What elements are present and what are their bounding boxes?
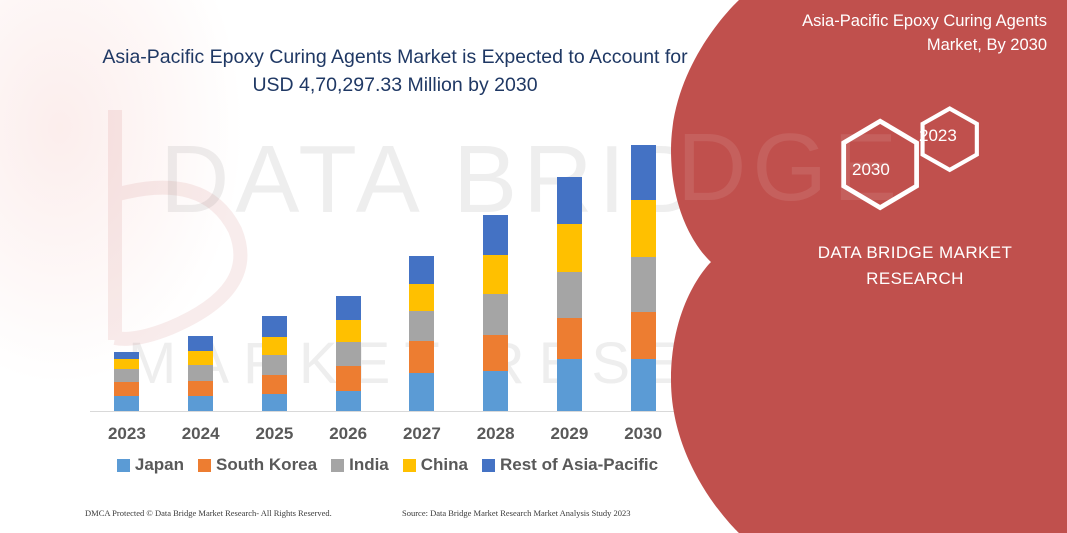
hexagon-2030-label: 2030 bbox=[852, 160, 890, 180]
brand-name: DATA BRIDGE MARKET RESEARCH bbox=[790, 240, 1040, 293]
legend-label: Japan bbox=[135, 455, 184, 475]
bar-stack bbox=[188, 336, 213, 411]
legend-label: Rest of Asia-Pacific bbox=[500, 455, 658, 475]
bar-column bbox=[90, 110, 164, 411]
footer-source: Source: Data Bridge Market Research Mark… bbox=[402, 508, 631, 518]
chart-title: Asia-Pacific Epoxy Curing Agents Market … bbox=[95, 44, 695, 99]
bar-segment bbox=[188, 381, 213, 396]
bar-segment bbox=[557, 272, 582, 318]
bar-column bbox=[238, 110, 312, 411]
bar-segment bbox=[409, 284, 434, 311]
bar-segment bbox=[188, 336, 213, 351]
bar-segment bbox=[483, 335, 508, 371]
bar-segment bbox=[336, 296, 361, 320]
bar-segment bbox=[631, 312, 656, 359]
legend-label: China bbox=[421, 455, 468, 475]
x-axis-label: 2023 bbox=[90, 424, 164, 444]
bar-segment bbox=[336, 342, 361, 366]
x-axis-label: 2026 bbox=[311, 424, 385, 444]
bar-segment bbox=[262, 375, 287, 394]
bar-segment bbox=[557, 359, 582, 411]
bar-segment bbox=[262, 394, 287, 411]
panel-title: Asia-Pacific Epoxy Curing Agents Market,… bbox=[747, 10, 1047, 58]
legend-item: Rest of Asia-Pacific bbox=[482, 455, 658, 475]
bar-segment bbox=[262, 337, 287, 355]
bar-segment bbox=[409, 311, 434, 341]
bar-segment bbox=[631, 145, 656, 200]
bar-segment bbox=[557, 177, 582, 224]
bar-segment bbox=[262, 316, 287, 337]
bar-stack bbox=[483, 215, 508, 411]
bar-stack bbox=[409, 256, 434, 411]
bar-segment bbox=[336, 391, 361, 411]
legend-swatch bbox=[482, 459, 495, 472]
bar-column bbox=[459, 110, 533, 411]
bar-segment bbox=[409, 256, 434, 284]
bar-stack bbox=[114, 352, 139, 411]
x-axis-label: 2029 bbox=[533, 424, 607, 444]
bar-segment bbox=[114, 369, 139, 382]
x-axis-label: 2028 bbox=[459, 424, 533, 444]
bar-segment bbox=[114, 352, 139, 359]
legend-item: India bbox=[331, 455, 389, 475]
bar-segment bbox=[188, 365, 213, 381]
bar-segment bbox=[483, 294, 508, 335]
bar-stack bbox=[262, 316, 287, 411]
legend-swatch bbox=[331, 459, 344, 472]
x-axis-label: 2025 bbox=[238, 424, 312, 444]
bar-segment bbox=[114, 382, 139, 396]
bar-stack bbox=[557, 177, 582, 411]
bar-segment bbox=[114, 359, 139, 369]
legend-item: China bbox=[403, 455, 468, 475]
hexagon-group: 2030 2023 bbox=[814, 105, 994, 215]
bar-column bbox=[164, 110, 238, 411]
bar-segment bbox=[188, 351, 213, 365]
legend-swatch bbox=[198, 459, 211, 472]
bar-segment bbox=[483, 215, 508, 254]
bar-segment bbox=[262, 355, 287, 375]
bar-segment bbox=[336, 320, 361, 342]
bar-segment bbox=[114, 396, 139, 411]
bar-segment bbox=[409, 341, 434, 373]
bar-column bbox=[311, 110, 385, 411]
bar-segment bbox=[631, 359, 656, 411]
bar-segment bbox=[409, 373, 434, 411]
legend-swatch bbox=[117, 459, 130, 472]
bar-segment bbox=[631, 200, 656, 256]
infographic-root: DATA BRIDGE MARKET RESEARCH Asia-Pacific… bbox=[0, 0, 1067, 533]
bar-segment bbox=[631, 257, 656, 312]
bar-stack bbox=[631, 145, 656, 411]
legend-label: South Korea bbox=[216, 455, 317, 475]
bar-column bbox=[606, 110, 680, 411]
x-axis-labels: 20232024202520262027202820292030 bbox=[90, 424, 680, 444]
bar-column bbox=[533, 110, 607, 411]
footer-copyright: DMCA Protected © Data Bridge Market Rese… bbox=[85, 508, 332, 518]
legend-item: Japan bbox=[117, 455, 184, 475]
x-axis-label: 2024 bbox=[164, 424, 238, 444]
legend-item: South Korea bbox=[198, 455, 317, 475]
legend-swatch bbox=[403, 459, 416, 472]
bar-column bbox=[385, 110, 459, 411]
legend-label: India bbox=[349, 455, 389, 475]
chart-legend: JapanSouth KoreaIndiaChinaRest of Asia-P… bbox=[90, 455, 685, 475]
bar-stack bbox=[336, 296, 361, 411]
bar-segment bbox=[483, 255, 508, 294]
bar-segment bbox=[557, 318, 582, 359]
bar-segment bbox=[557, 224, 582, 271]
chart-plot-area bbox=[90, 110, 680, 412]
x-axis-label: 2027 bbox=[385, 424, 459, 444]
bar-segment bbox=[483, 371, 508, 411]
x-axis-label: 2030 bbox=[606, 424, 680, 444]
x-axis-line bbox=[90, 411, 680, 412]
bar-group bbox=[90, 110, 680, 411]
bar-segment bbox=[188, 396, 213, 411]
hexagon-2023-label: 2023 bbox=[919, 126, 957, 146]
bar-segment bbox=[336, 366, 361, 391]
